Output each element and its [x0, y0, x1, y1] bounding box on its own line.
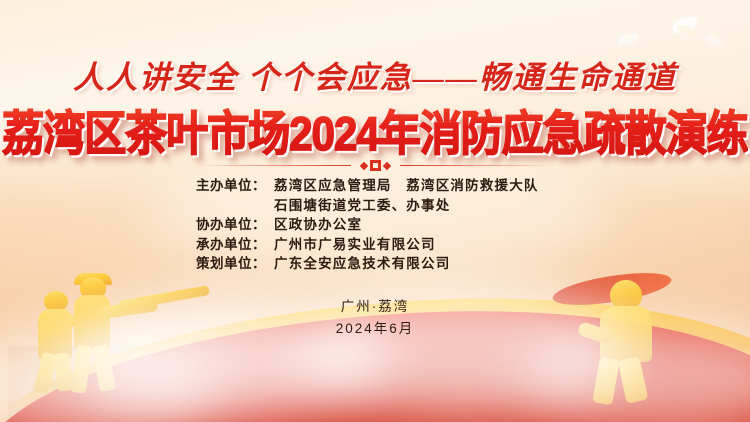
credit-row: 主办单位： 荔湾区应急管理局 荔湾区消防救援大队 [196, 176, 554, 196]
poster-subtitle: 人人讲安全 个个会应急——畅通生命通道 [73, 52, 677, 97]
poster-main-title: 荔湾区茶叶市场2024年消防应急疏散演练 [2, 96, 747, 164]
credit-value: 石围塘街道党工委、办事处 [274, 196, 554, 216]
dove-icon [705, 33, 723, 48]
ornamental-divider [0, 160, 750, 171]
footer-place: 广州·荔湾 [0, 296, 750, 318]
poster-main-title-row: 荔湾区茶叶市场2024年消防应急疏散演练 [0, 100, 750, 161]
silhouette-leg [92, 344, 116, 392]
credits-block: 主办单位： 荔湾区应急管理局 荔湾区消防救援大队 主办单位： 石围塘街道党工委、… [0, 176, 750, 274]
diamond-large-icon [370, 160, 381, 171]
credit-value: 广州市广易实业有限公司 [274, 235, 554, 255]
credit-label: 承办单位： [196, 235, 274, 255]
diamond-small-icon [382, 161, 390, 169]
credit-value: 荔湾区应急管理局 荔湾区消防救援大队 [274, 176, 554, 196]
subtitle-row: 人人讲安全 个个会应急——畅通生命通道 [0, 52, 750, 97]
divider-line-left [196, 165, 351, 167]
diamond-ornament-icon [361, 160, 390, 171]
credit-row: 主办单位： 石围塘街道党工委、办事处 [196, 196, 554, 216]
dove-icon [617, 32, 638, 44]
credit-label: 策划单位： [196, 254, 274, 274]
credit-row: 协办单位： 区政协办公室 [196, 215, 554, 235]
silhouette-leg [71, 344, 93, 394]
diamond-small-icon [359, 161, 367, 169]
footer-block: 广州·荔湾 2024年6月 [0, 296, 750, 340]
credit-row: 策划单位： 广东全安应急技术有限公司 [196, 254, 554, 274]
silhouette-leg [592, 357, 620, 406]
divider-line-right [400, 165, 555, 167]
credit-value: 广东全安应急技术有限公司 [274, 254, 554, 274]
silhouette-leg [618, 356, 649, 404]
credit-label: 协办单位： [196, 215, 274, 235]
credit-value: 区政协办公室 [274, 215, 554, 235]
poster-canvas: 人人讲安全 个个会应急——畅通生命通道 荔湾区茶叶市场2024年消防应急疏散演练… [0, 0, 750, 422]
credit-row: 承办单位： 广州市广易实业有限公司 [196, 235, 554, 255]
footer-date: 2024年6月 [0, 318, 750, 340]
credit-label: 主办单位： [196, 176, 274, 196]
